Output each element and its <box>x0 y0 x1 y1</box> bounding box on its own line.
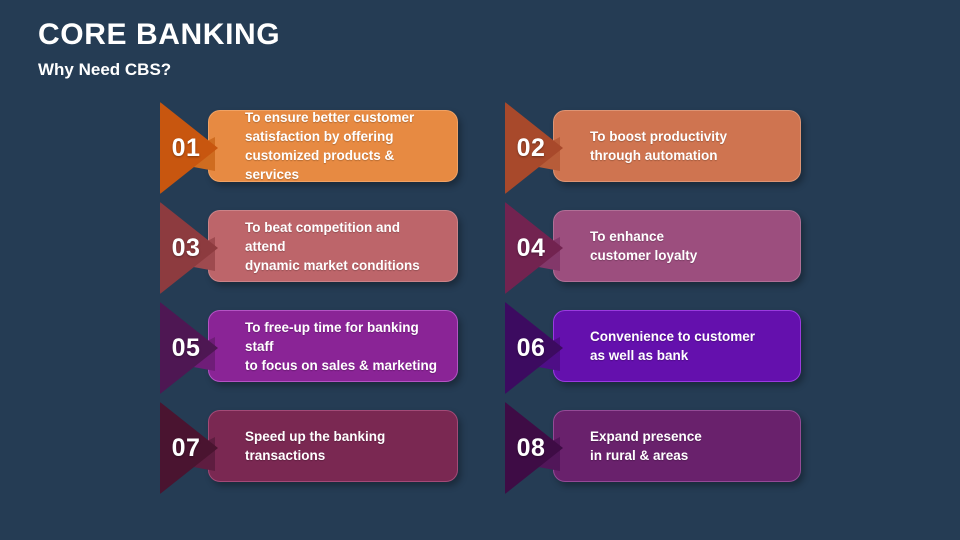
benefit-card[interactable]: To enhance customer loyalty04 <box>505 198 801 298</box>
card-body[interactable]: To boost productivity through automation <box>553 110 801 182</box>
card-body[interactable]: Expand presence in rural & areas <box>553 410 801 482</box>
card-text: Speed up the banking transactions <box>209 427 399 465</box>
card-number: 03 <box>160 198 212 298</box>
card-number: 07 <box>160 398 212 498</box>
card-body[interactable]: To enhance customer loyalty <box>553 210 801 282</box>
card-number-arrow: 08 <box>505 398 563 498</box>
card-text: To free-up time for banking staff to foc… <box>209 318 457 375</box>
card-number: 05 <box>160 298 212 398</box>
card-text: To enhance customer loyalty <box>554 227 711 265</box>
card-number: 06 <box>505 298 557 398</box>
card-number: 02 <box>505 98 557 198</box>
card-number-arrow: 02 <box>505 98 563 198</box>
card-body[interactable]: To free-up time for banking staff to foc… <box>208 310 458 382</box>
card-body[interactable]: Convenience to customer as well as bank <box>553 310 801 382</box>
benefit-card[interactable]: Speed up the banking transactions07 <box>160 398 458 498</box>
card-body[interactable]: Speed up the banking transactions <box>208 410 458 482</box>
card-number-arrow: 05 <box>160 298 218 398</box>
card-number-arrow: 06 <box>505 298 563 398</box>
card-text: To boost productivity through automation <box>554 127 741 165</box>
card-body[interactable]: To ensure better customer satisfaction b… <box>208 110 458 182</box>
card-body[interactable]: To beat competition and attend dynamic m… <box>208 210 458 282</box>
benefit-card[interactable]: To ensure better customer satisfaction b… <box>160 98 458 198</box>
benefit-card[interactable]: Expand presence in rural & areas08 <box>505 398 801 498</box>
card-number-arrow: 07 <box>160 398 218 498</box>
card-number: 04 <box>505 198 557 298</box>
card-number-arrow: 03 <box>160 198 218 298</box>
slide-canvas: CORE BANKING Why Need CBS? To ensure bet… <box>0 0 960 540</box>
card-number: 01 <box>160 98 212 198</box>
benefit-card[interactable]: To free-up time for banking staff to foc… <box>160 298 458 398</box>
benefit-card[interactable]: To beat competition and attend dynamic m… <box>160 198 458 298</box>
card-number: 08 <box>505 398 557 498</box>
benefit-card[interactable]: Convenience to customer as well as bank0… <box>505 298 801 398</box>
card-number-arrow: 01 <box>160 98 218 198</box>
benefit-card[interactable]: To boost productivity through automation… <box>505 98 801 198</box>
card-text: Convenience to customer as well as bank <box>554 327 769 365</box>
card-text: To beat competition and attend dynamic m… <box>209 218 457 275</box>
card-text: To ensure better customer satisfaction b… <box>209 108 457 184</box>
card-number-arrow: 04 <box>505 198 563 298</box>
card-text: Expand presence in rural & areas <box>554 427 716 465</box>
cards-grid: To ensure better customer satisfaction b… <box>0 0 960 540</box>
